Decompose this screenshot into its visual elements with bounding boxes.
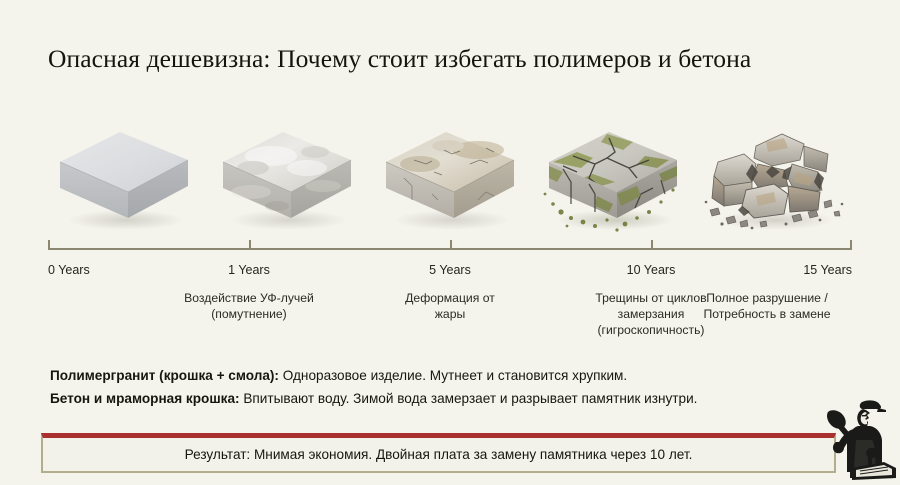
timeline-label-1-year: 1 Years Воздействие УФ-лучей (помутнение… [164, 262, 334, 322]
note-concrete: Бетон и мраморная крошка: Впитывают воду… [50, 387, 840, 410]
clouded-slab-icon [211, 116, 361, 236]
stage-0-years [48, 104, 198, 240]
caption-line: Потребность в замене [682, 306, 852, 322]
note-term: Бетон и мраморная крошка: [50, 391, 240, 406]
infographic-slide: Опасная дешевизна: Почему стоит избегать… [0, 0, 900, 485]
degradation-stages [48, 104, 852, 240]
note-text: Одноразовое изделие. Мутнеет и становитс… [279, 368, 627, 383]
material-notes: Полимергранит (крошка + смола): Одноразо… [50, 364, 840, 410]
timeline-label-15-years: 15 Years Полное разрушение / Потребность… [682, 262, 852, 322]
year-label: 15 Years [682, 262, 852, 278]
caption-line: жары [365, 306, 535, 322]
year-label: 1 Years [164, 262, 334, 278]
conclusion-text: Результат: Мнимая экономия. Двойная плат… [185, 447, 693, 462]
axis-tick-5 [450, 240, 452, 250]
timeline-labels: 0 Years 1 Years Воздействие УФ-лучей (по… [48, 262, 852, 342]
stage-1-year [211, 104, 361, 240]
stage-caption: Воздействие УФ-лучей (помутнение) [164, 290, 334, 322]
stonemason-carving-icon [822, 396, 896, 480]
axis-tick-10 [651, 240, 653, 250]
caption-line: Полное разрушение / [682, 290, 852, 306]
caption-line: Деформация от [365, 290, 535, 306]
page-title: Опасная дешевизна: Почему стоит избегать… [48, 44, 868, 74]
axis-tick-15 [850, 240, 852, 250]
year-label: 5 Years [365, 262, 535, 278]
pristine-slab-icon [48, 116, 198, 236]
note-text: Впитывают воду. Зимой вода замерзает и р… [240, 391, 698, 406]
conclusion-banner: Результат: Мнимая экономия. Двойная плат… [41, 433, 836, 473]
stage-caption: Полное разрушение / Потребность в замене [682, 290, 852, 322]
note-term: Полимергранит (крошка + смола): [50, 368, 279, 383]
rubble-slab-icon [700, 116, 850, 236]
stage-15-years [700, 104, 850, 240]
stained-slab-icon [374, 116, 524, 236]
caption-line: Воздействие УФ-лучей [164, 290, 334, 306]
caption-line: (помутнение) [164, 306, 334, 322]
axis-tick-1 [249, 240, 251, 250]
note-polymergranite: Полимергранит (крошка + смола): Одноразо… [50, 364, 840, 387]
timeline-axis [48, 248, 852, 250]
cracked-mossy-slab-icon [537, 116, 687, 236]
stage-caption: Деформация от жары [365, 290, 535, 322]
axis-tick-0 [48, 240, 50, 250]
stage-10-years [537, 104, 687, 240]
timeline-label-5-years: 5 Years Деформация от жары [365, 262, 535, 322]
stage-5-years [374, 104, 524, 240]
caption-line: (гигроскопичность) [566, 322, 736, 338]
